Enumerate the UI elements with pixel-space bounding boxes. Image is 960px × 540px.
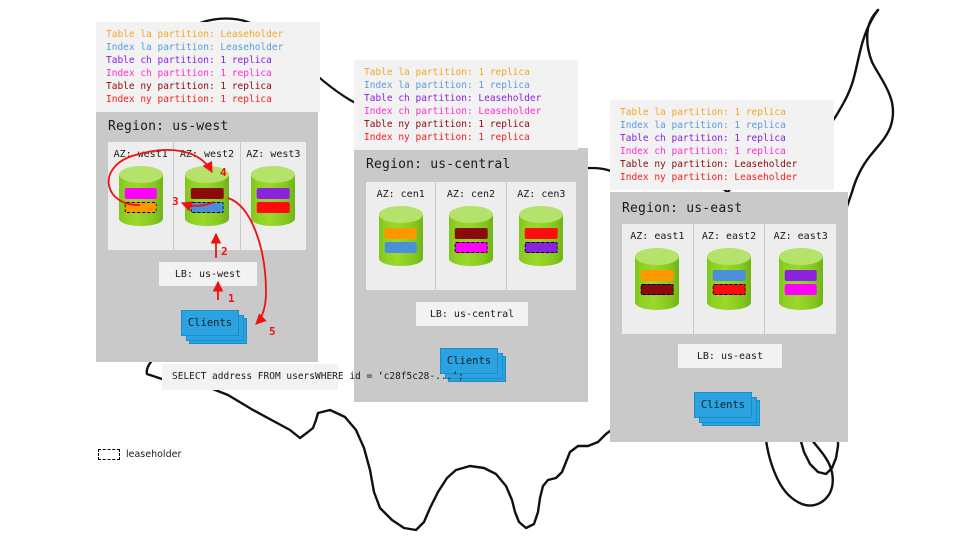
partition-band xyxy=(455,228,488,239)
database-cylinder[interactable] xyxy=(707,248,751,310)
database-cylinder[interactable] xyxy=(449,206,493,266)
cylinder-top xyxy=(707,248,751,265)
az-label: AZ: east3 xyxy=(765,231,836,242)
partition-band xyxy=(784,270,817,281)
clients-us-east[interactable]: Clients xyxy=(694,392,760,426)
az-cen3[interactable]: AZ: cen3 xyxy=(506,182,576,290)
region-title-us-central: Region: us-central xyxy=(366,157,510,172)
database-cylinder[interactable] xyxy=(119,166,163,226)
az-label: AZ: west3 xyxy=(241,149,306,160)
load-balancer-us-west[interactable]: LB: us-west xyxy=(159,262,257,286)
az-strip-us-east: AZ: east1 AZ: east2 AZ: east3 xyxy=(622,224,836,334)
flow-step-1: 1 xyxy=(228,292,235,305)
region-us-east[interactable]: Region: us-east AZ: east1 AZ: east2 xyxy=(610,192,848,442)
database-cylinder[interactable] xyxy=(779,248,823,310)
cylinder-top xyxy=(251,166,295,183)
clients-us-west[interactable]: Clients xyxy=(181,310,247,344)
note-line: Index ch partition: 1 replica xyxy=(620,145,826,158)
partition-band xyxy=(525,228,558,239)
az-label: AZ: cen2 xyxy=(436,189,505,200)
partition-band xyxy=(713,270,746,281)
note-line: Index ny partition: Leaseholder xyxy=(620,171,826,184)
partition-band xyxy=(784,284,817,295)
note-line: Index ch partition: Leaseholder xyxy=(364,105,570,118)
load-balancer-us-central[interactable]: LB: us-central xyxy=(416,302,528,326)
database-cylinder[interactable] xyxy=(635,248,679,310)
az-label: AZ: east1 xyxy=(622,231,693,242)
az-west2[interactable]: AZ: west2 xyxy=(173,142,239,250)
database-cylinder[interactable] xyxy=(519,206,563,266)
az-label: AZ: west1 xyxy=(108,149,173,160)
note-line: Table ny partition: 1 replica xyxy=(106,80,312,93)
az-label: AZ: east2 xyxy=(694,231,765,242)
cylinder-top xyxy=(449,206,493,223)
sql-query-note: SELECT address FROM usersWHERE id = ‘c28… xyxy=(162,364,338,390)
partition-band-leaseholder xyxy=(641,284,674,295)
partition-band xyxy=(257,202,290,213)
az-east1[interactable]: AZ: east1 xyxy=(622,224,693,334)
note-line: Index la partition: 1 replica xyxy=(620,119,826,132)
partition-band xyxy=(384,228,417,239)
clients-label[interactable]: Clients xyxy=(694,392,752,418)
note-line: Table ny partition: Leaseholder xyxy=(620,158,826,171)
cylinder-top xyxy=(779,248,823,265)
cylinder-top xyxy=(379,206,423,223)
partition-band xyxy=(641,270,674,281)
partition-band xyxy=(257,188,290,199)
clients-label[interactable]: Clients xyxy=(181,310,239,336)
note-line: Index ch partition: 1 replica xyxy=(106,67,312,80)
flow-step-4: 4 xyxy=(220,166,227,179)
note-line: Table ch partition: 1 replica xyxy=(620,132,826,145)
az-west1[interactable]: AZ: west1 xyxy=(108,142,173,250)
az-strip-us-central: AZ: cen1 AZ: cen2 AZ: cen3 xyxy=(366,182,576,290)
partition-band-leaseholder xyxy=(713,284,746,295)
leaseholder-swatch-icon xyxy=(98,449,120,460)
flow-step-5: 5 xyxy=(269,325,276,338)
sql-line-1: SELECT address FROM users xyxy=(172,371,315,382)
partition-band-leaseholder xyxy=(455,242,488,253)
note-line: Table la partition: 1 replica xyxy=(364,66,570,79)
note-line: Index la partition: 1 replica xyxy=(364,79,570,92)
note-line: Index ny partition: 1 replica xyxy=(364,131,570,144)
sql-line-2: WHERE id = ‘c28f5c28-...’; xyxy=(315,371,464,382)
az-west3[interactable]: AZ: west3 xyxy=(240,142,306,250)
partition-band xyxy=(191,188,224,199)
az-east3[interactable]: AZ: east3 xyxy=(764,224,836,334)
note-line: Table ch partition: 1 replica xyxy=(106,54,312,67)
cylinder-top xyxy=(119,166,163,183)
note-line: Table la partition: 1 replica xyxy=(620,106,826,119)
note-us-west: Table la partition: LeaseholderIndex la … xyxy=(96,22,320,112)
database-cylinder[interactable] xyxy=(251,166,295,226)
partition-band-leaseholder xyxy=(191,202,224,213)
flow-step-2: 2 xyxy=(221,245,228,258)
leaseholder-legend-label: leaseholder xyxy=(126,449,181,460)
note-us-east: Table la partition: 1 replicaIndex la pa… xyxy=(610,100,834,190)
note-line: Index ny partition: 1 replica xyxy=(106,93,312,106)
az-label: AZ: cen3 xyxy=(507,189,576,200)
az-cen2[interactable]: AZ: cen2 xyxy=(435,182,505,290)
load-balancer-us-east[interactable]: LB: us-east xyxy=(678,344,782,368)
leaseholder-legend: leaseholder xyxy=(98,449,181,460)
diagram-canvas: Region: us-west AZ: west1 AZ: west2 xyxy=(0,0,960,540)
flow-step-3: 3 xyxy=(172,195,179,208)
note-line: Table ch partition: Leaseholder xyxy=(364,92,570,105)
az-cen1[interactable]: AZ: cen1 xyxy=(366,182,435,290)
database-cylinder[interactable] xyxy=(379,206,423,266)
partition-band-leaseholder xyxy=(525,242,558,253)
partition-band xyxy=(384,242,417,253)
region-us-central[interactable]: Region: us-central AZ: cen1 AZ: cen2 xyxy=(354,148,588,402)
az-label: AZ: west2 xyxy=(174,149,239,160)
cylinder-top xyxy=(635,248,679,265)
note-line: Index la partition: Leaseholder xyxy=(106,41,312,54)
region-title-us-east: Region: us-east xyxy=(622,201,742,216)
az-label: AZ: cen1 xyxy=(366,189,435,200)
region-title-us-west: Region: us-west xyxy=(108,119,228,134)
region-us-west[interactable]: Region: us-west AZ: west1 AZ: west2 xyxy=(96,110,318,362)
note-line: Table la partition: Leaseholder xyxy=(106,28,312,41)
az-east2[interactable]: AZ: east2 xyxy=(693,224,765,334)
note-us-central: Table la partition: 1 replicaIndex la pa… xyxy=(354,60,578,150)
az-strip-us-west: AZ: west1 AZ: west2 AZ: west3 xyxy=(108,142,306,250)
partition-band xyxy=(124,188,157,199)
cylinder-top xyxy=(519,206,563,223)
partition-band-leaseholder xyxy=(124,202,157,213)
note-line: Table ny partition: 1 replica xyxy=(364,118,570,131)
